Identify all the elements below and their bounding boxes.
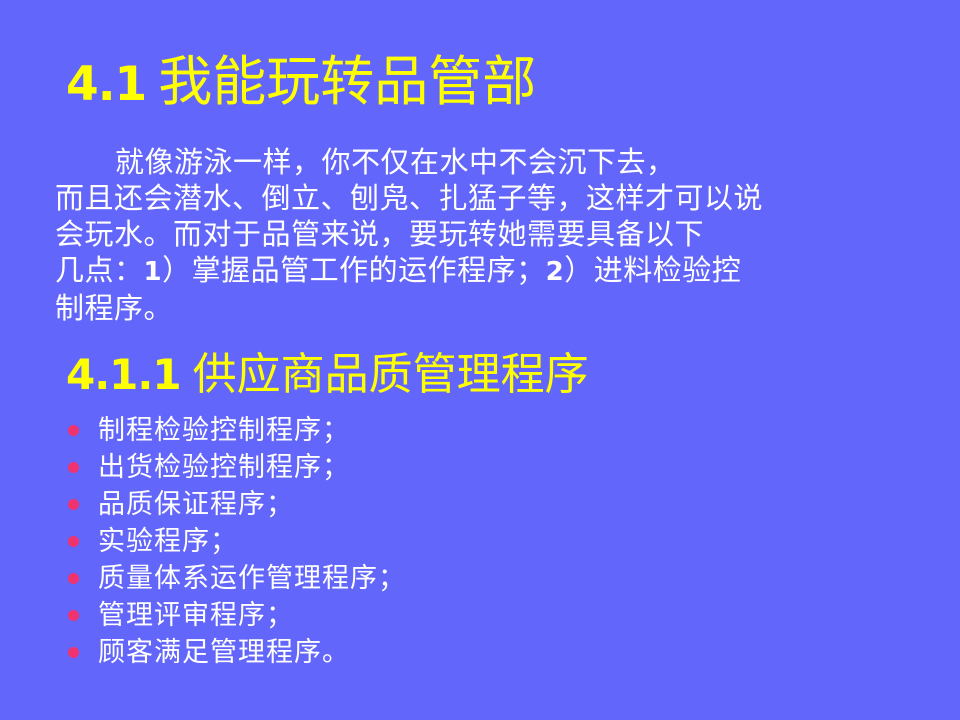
list-item-label: 品质保证程序； bbox=[98, 489, 294, 520]
body-enum-1: 1 bbox=[144, 257, 163, 287]
title-text: 我能玩转品管部 bbox=[158, 50, 536, 113]
bullet-dot-icon bbox=[68, 536, 79, 547]
bullet-dot-icon bbox=[68, 610, 79, 621]
body-line-4-prefix: 几点： bbox=[55, 253, 144, 287]
subtitle-number: 4.1.1 bbox=[66, 350, 181, 399]
bullet-dot-icon bbox=[68, 573, 79, 584]
section-subtitle: 4.1.1供应商品质管理程序 bbox=[66, 350, 589, 409]
bullet-dot-icon bbox=[68, 462, 79, 473]
list-item-label: 管理评审程序； bbox=[98, 600, 294, 631]
body-line-5: 制程序。 bbox=[55, 290, 935, 326]
list-item-label: 顾客满足管理程序。 bbox=[98, 637, 350, 668]
list-item: 管理评审程序； bbox=[62, 597, 406, 634]
title-number: 4.1 bbox=[66, 57, 146, 112]
list-item-label: 制程检验控制程序； bbox=[98, 415, 350, 446]
list-item: 制程检验控制程序； bbox=[62, 412, 406, 449]
list-item-label: 实验程序； bbox=[98, 526, 238, 557]
body-enum-2: 2 bbox=[546, 257, 565, 287]
page-title: 4.1我能玩转品管部 bbox=[66, 52, 536, 115]
list-item-label: 质量体系运作管理程序； bbox=[98, 563, 406, 594]
bullet-dot-icon bbox=[68, 647, 79, 658]
subtitle-text: 供应商品质管理程序 bbox=[193, 349, 589, 400]
list-item: 品质保证程序； bbox=[62, 486, 406, 523]
procedure-bullet-list: 制程检验控制程序； 出货检验控制程序； 品质保证程序； 实验程序； 质量体系运作… bbox=[62, 412, 406, 671]
body-line-4-mid: ）掌握品管工作的运作程序； bbox=[162, 253, 546, 287]
slide-canvas: 4.1我能玩转品管部 就像游泳一样，你不仅在水中不会沉下去， 而且还会潜水、倒立… bbox=[0, 0, 960, 720]
body-line-1: 就像游泳一样，你不仅在水中不会沉下去， bbox=[55, 144, 935, 180]
list-item: 质量体系运作管理程序； bbox=[62, 560, 406, 597]
body-paragraph: 就像游泳一样，你不仅在水中不会沉下去， 而且还会潜水、倒立、刨凫、扎猛子等，这样… bbox=[55, 144, 935, 326]
body-line-2: 而且还会潜水、倒立、刨凫、扎猛子等，这样才可以说 bbox=[55, 180, 935, 216]
bullet-dot-icon bbox=[68, 425, 79, 436]
body-line-3: 会玩水。而对于品管来说，要玩转她需要具备以下 bbox=[55, 216, 935, 252]
list-item: 实验程序； bbox=[62, 523, 406, 560]
body-line-4: 几点：1）掌握品管工作的运作程序；2）进料检验控 bbox=[55, 252, 935, 290]
body-line-4-tail: ）进料检验控 bbox=[564, 253, 741, 287]
list-item-label: 出货检验控制程序； bbox=[98, 452, 350, 483]
list-item: 顾客满足管理程序。 bbox=[62, 634, 406, 671]
list-item: 出货检验控制程序； bbox=[62, 449, 406, 486]
bullet-dot-icon bbox=[68, 499, 79, 510]
